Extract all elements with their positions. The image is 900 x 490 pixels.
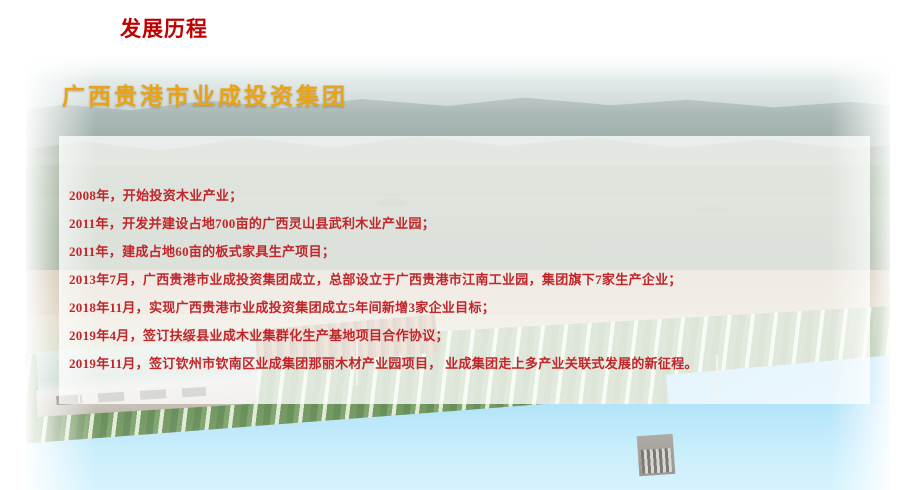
photo-concrete-structure: [637, 434, 676, 476]
content-panel: 2008年，开始投资木业产业； 2011年，开发并建设占地700亩的广西灵山县武…: [59, 136, 870, 404]
timeline-list: 2008年，开始投资木业产业； 2011年，开发并建设占地700亩的广西灵山县武…: [69, 182, 862, 378]
company-name: 广西贵港市业成投资集团: [62, 82, 348, 112]
page-title: 发展历程: [120, 15, 208, 43]
list-item: 2018年11月，实现广西贵港市业成投资集团成立5年间新增3家企业目标；: [69, 294, 862, 322]
list-item: 2008年，开始投资木业产业；: [69, 182, 862, 210]
list-item: 2013年7月，广西贵港市业成投资集团成立，总部设立于广西贵港市江南工业园，集团…: [69, 266, 862, 294]
list-item: 2019年11月，签订钦州市钦南区业成集团那丽木材产业园项目， 业成集团走上多产…: [69, 350, 862, 378]
presentation-slide: 发展历程 广西贵港市业成投资集团 2008年，开: [0, 0, 900, 490]
list-item: 2019年4月，签订扶绥县业成木业集群化生产基地项目合作协议；: [69, 322, 862, 350]
list-item: 2011年，开发并建设占地700亩的广西灵山县武利木业产业园；: [69, 210, 862, 238]
list-item: 2011年，建成占地60亩的板式家具生产项目；: [69, 238, 862, 266]
